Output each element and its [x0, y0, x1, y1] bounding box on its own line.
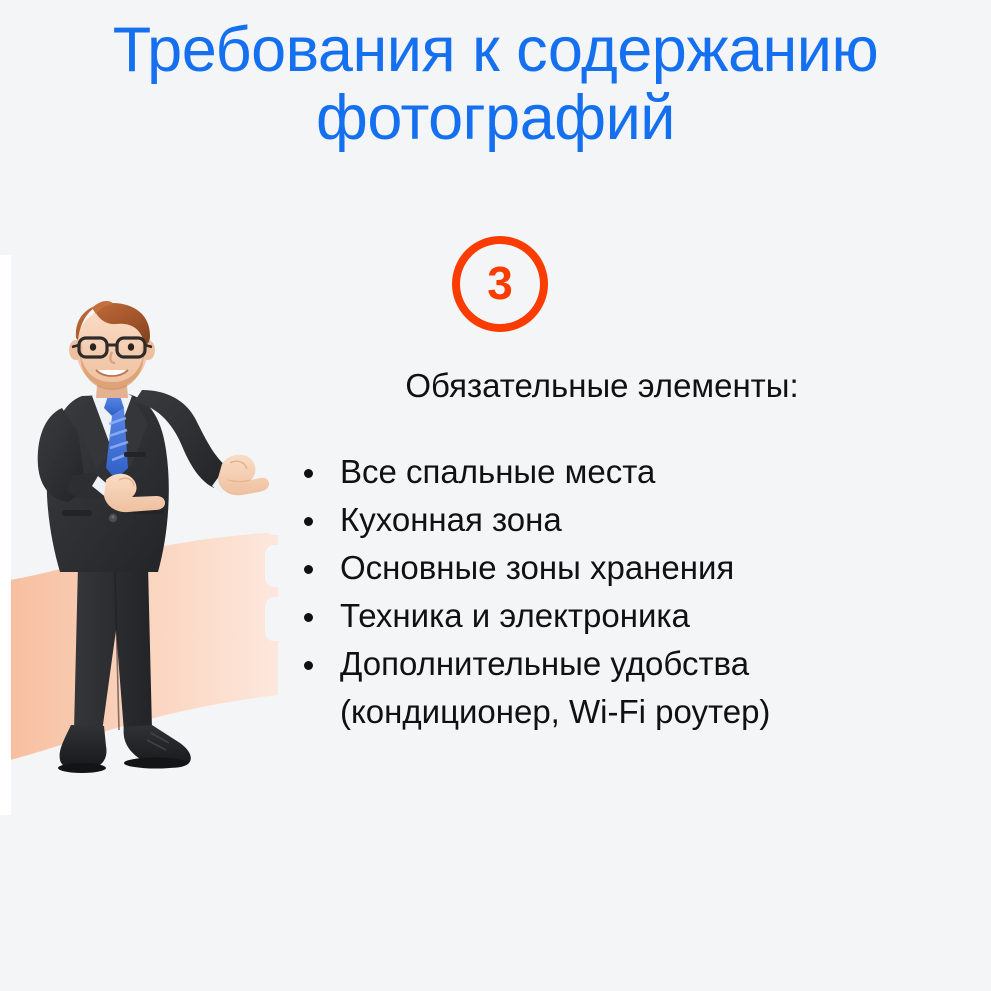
requirements-list: Все спальные места Кухонная зона Основны… [272, 448, 932, 736]
page-title: Требования к содержанию фотографий [0, 16, 991, 152]
bullet-dot-icon [304, 517, 313, 526]
slide-canvas: Требования к содержанию фотографий [0, 0, 991, 991]
businessman-illustration [16, 300, 268, 800]
list-item: Техника и электроника [304, 592, 932, 640]
head [69, 301, 155, 390]
list-item-text: Техника и электроника [340, 597, 690, 634]
list-item-text: Основные зоны хранения [340, 549, 734, 586]
title-line-1: Требования к содержанию [0, 16, 991, 84]
list-item-text-line2: (кондиционер, Wi-Fi роутер) [340, 688, 932, 736]
list-item-text: Дополнительные удобства [340, 645, 749, 682]
bullet-dot-icon [304, 565, 313, 574]
content-block: Обязательные элементы: Все спальные мест… [272, 366, 932, 736]
list-item: Дополнительные удобства (кондиционер, Wi… [304, 640, 932, 736]
bullet-dot-icon [304, 661, 313, 670]
hand-pointing-upper [218, 455, 269, 496]
list-item-text: Кухонная зона [340, 501, 562, 538]
title-line-2: фотографий [0, 84, 991, 152]
list-item: Все спальные места [304, 448, 932, 496]
left-white-strip [0, 255, 11, 815]
bullet-dot-icon [304, 613, 313, 622]
subheading: Обязательные элементы: [272, 366, 932, 406]
list-item: Кухонная зона [304, 496, 932, 544]
list-item-text: Все спальные места [340, 453, 655, 490]
shoe-left [58, 725, 107, 773]
list-item: Основные зоны хранения [304, 544, 932, 592]
shoe-right [124, 725, 191, 769]
step-number-badge: 3 [452, 236, 548, 332]
step-number: 3 [487, 260, 513, 306]
bullet-dot-icon [304, 469, 313, 478]
